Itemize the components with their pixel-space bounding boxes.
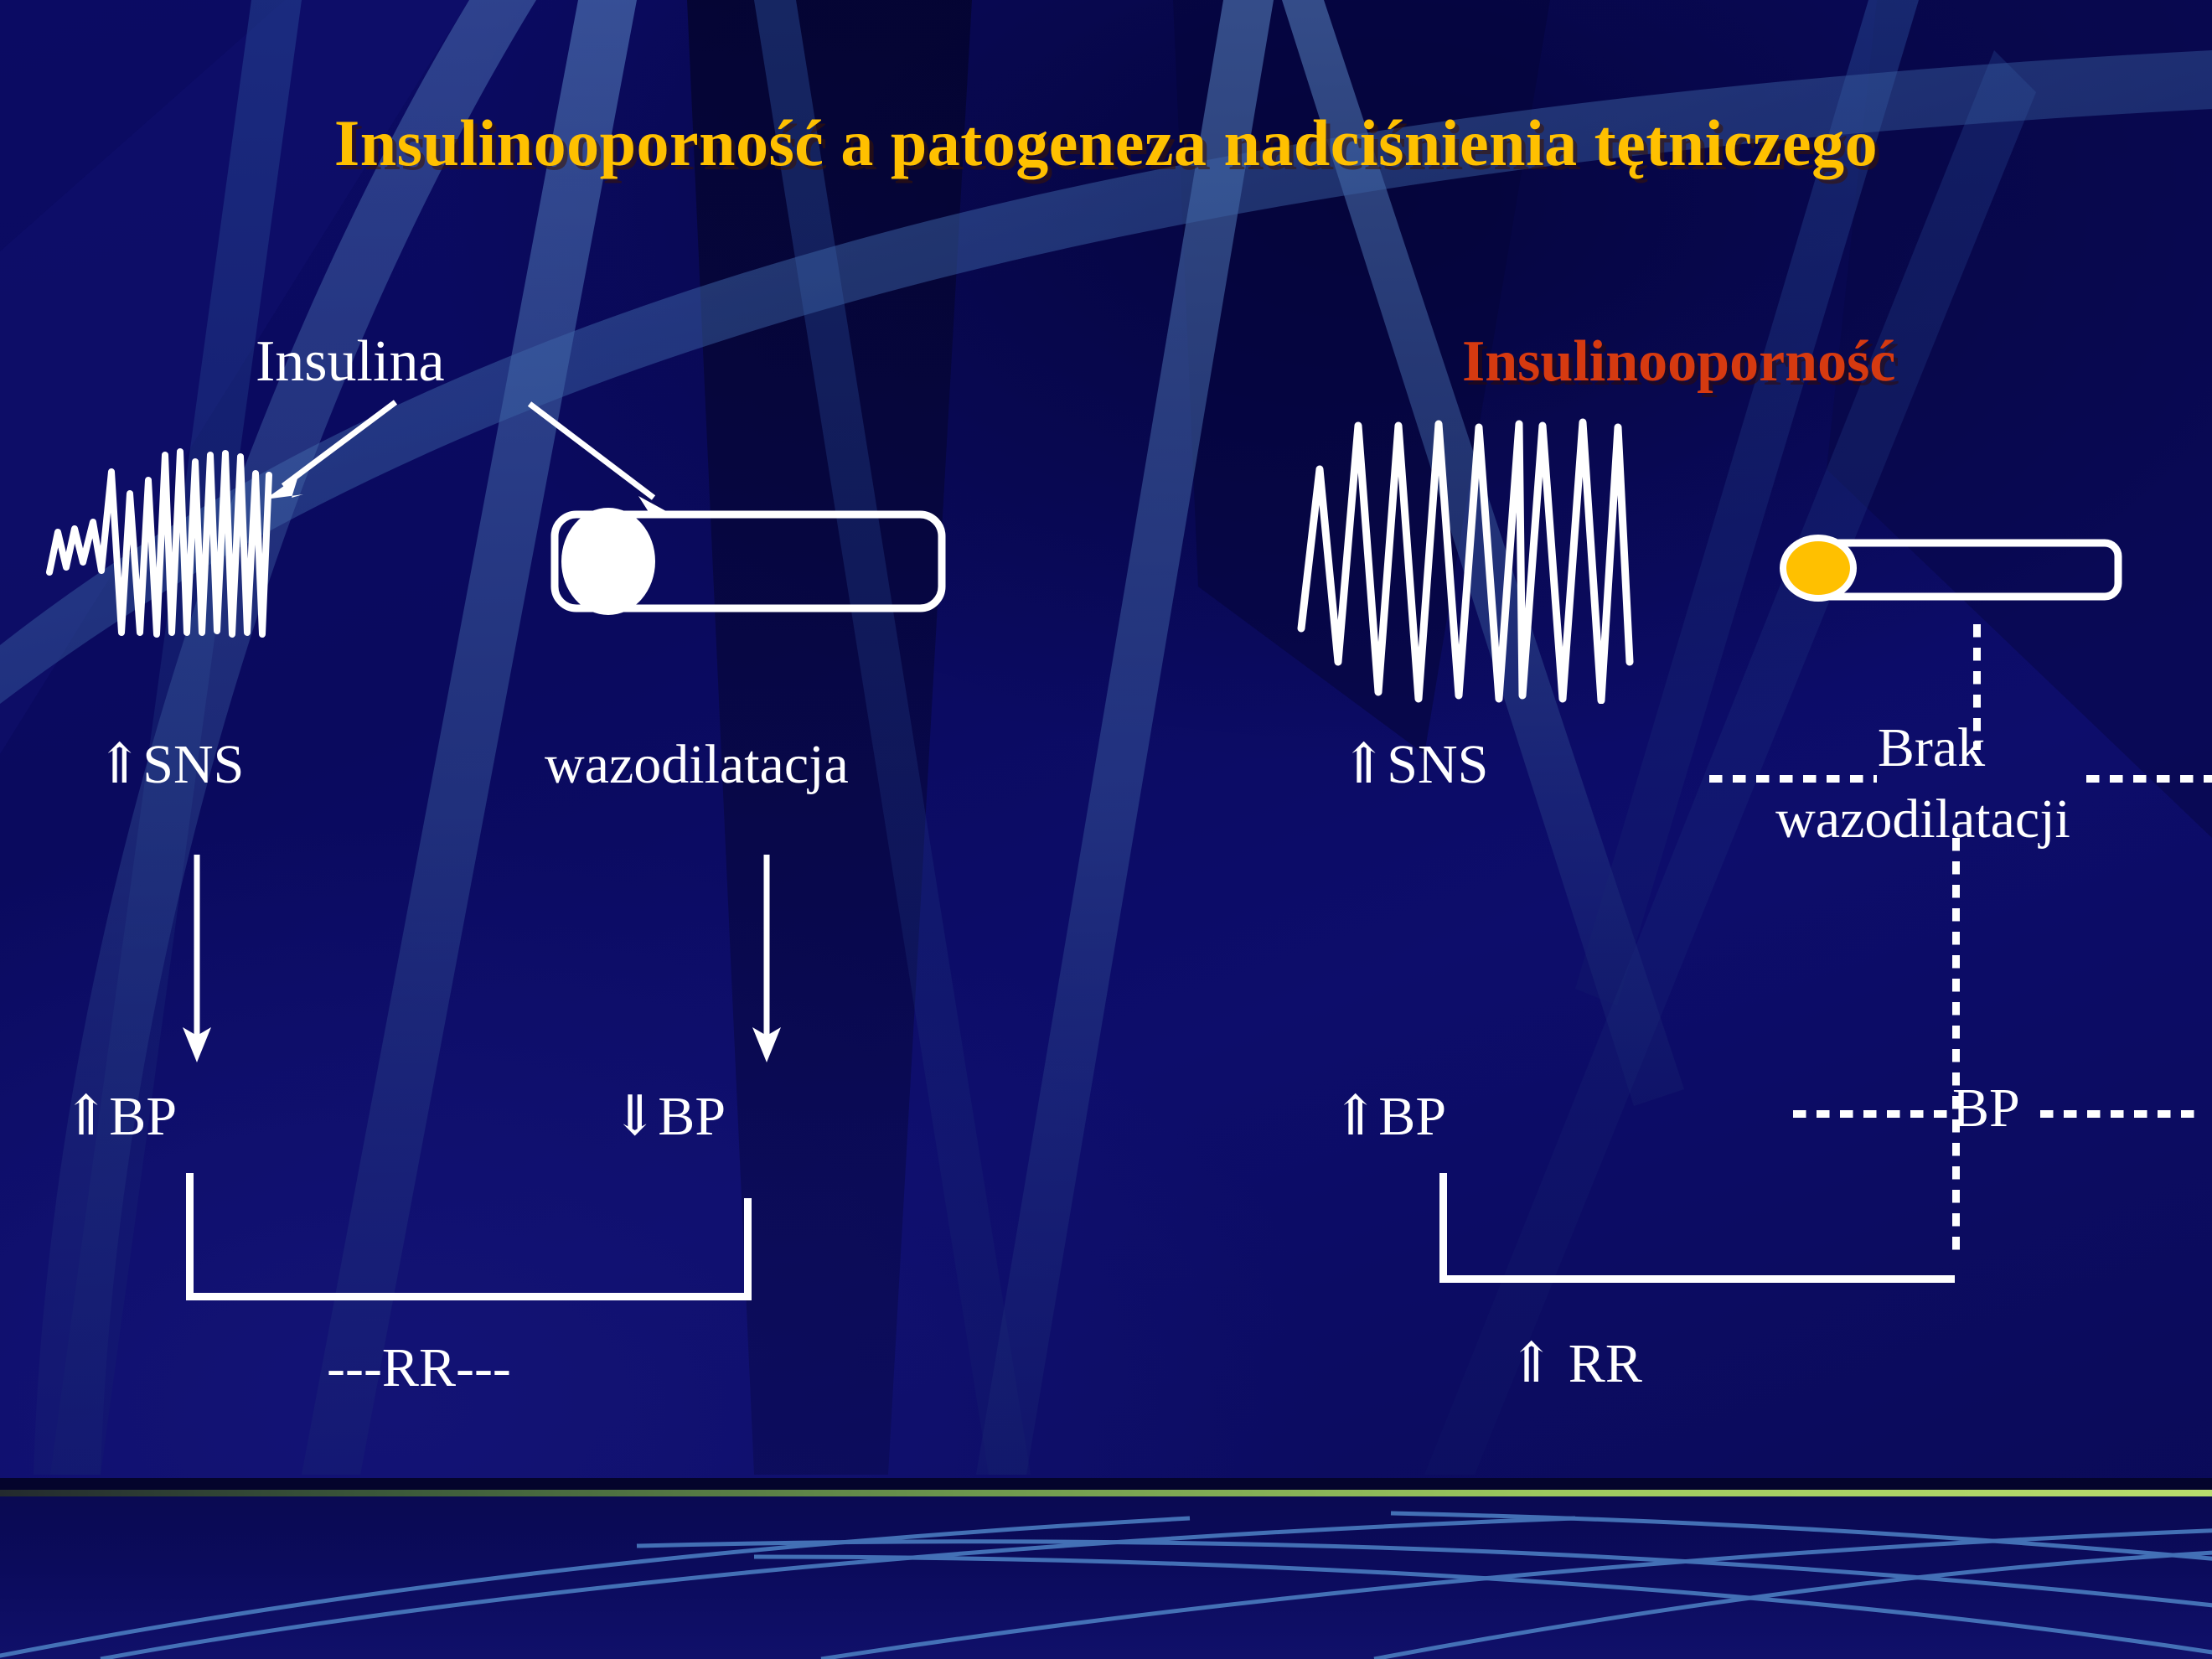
- red-cell-right: [1786, 541, 1850, 595]
- dotted-line-right-of-bp: [2040, 1110, 2195, 1118]
- arrow-down-icon-sns-left: [168, 855, 226, 1064]
- bracket-right-panel-vertical: [1439, 1173, 1447, 1282]
- red-cell-left: [561, 508, 655, 615]
- dotted-line-vessel-to-label: [1973, 624, 1981, 750]
- blood-vessel-constricted: [1776, 519, 2128, 620]
- dotted-line-left-of-bp: [1793, 1110, 1948, 1118]
- left-outcome-label: ---RR---: [327, 1341, 511, 1396]
- bracket-left-vertical: [186, 1173, 194, 1300]
- sympathetic-waveform-right: [1295, 411, 1638, 704]
- vasodilation-label: wazodilatacja: [545, 737, 849, 793]
- arrow-down-icon-vasodilation: [737, 855, 796, 1064]
- dotted-line-label-to-bp: [1952, 838, 1960, 1257]
- left-bp-down-label: ⇓BP: [612, 1089, 726, 1145]
- left-panel-heading: Insulina: [256, 328, 445, 395]
- arrow-down-left-icon: [251, 394, 402, 511]
- bracket-horizontal: [186, 1293, 752, 1300]
- blood-vessel-dilated: [536, 503, 955, 620]
- dotted-line-left-of-brak: [1709, 775, 1877, 783]
- bracket-right-vertical: [744, 1198, 752, 1300]
- left-sns-label: ⇑SNS: [96, 737, 244, 793]
- bracket-right-panel-horizontal: [1439, 1275, 1955, 1283]
- right-outcome-label: ⇑ RR: [1508, 1336, 1642, 1392]
- no-vasodilation-line1: Brak: [1755, 721, 2107, 776]
- page-title: Insulinooporność a patogeneza nadciśnien…: [0, 106, 2212, 181]
- presentation-slide: Insulinooporność a patogeneza nadciśnien…: [0, 0, 2212, 1659]
- right-panel-heading: Insulinooporność: [1462, 328, 1895, 395]
- dotted-line-right-of-brak: [2086, 775, 2212, 783]
- right-bp-neutral-label: BP: [1952, 1081, 2020, 1136]
- right-bp-up-label: ⇑BP: [1332, 1089, 1446, 1145]
- left-bp-up-label: ⇑BP: [63, 1089, 177, 1145]
- no-vasodilation-line2: wazodilatacji: [1726, 792, 2120, 847]
- right-sns-label: ⇑SNS: [1341, 737, 1488, 793]
